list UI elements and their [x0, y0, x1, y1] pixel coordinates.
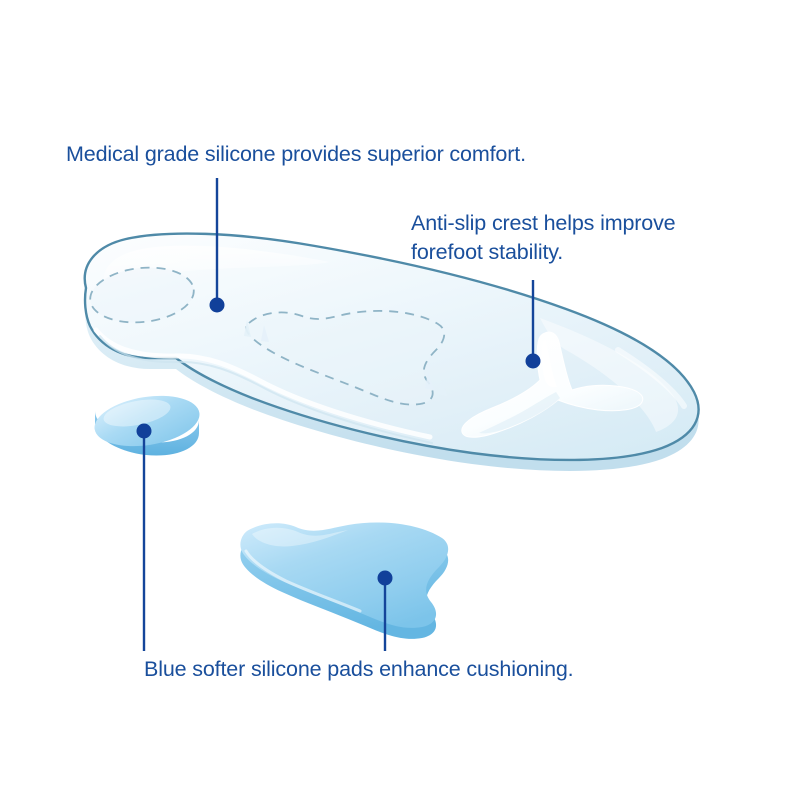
metatarsal-pad — [240, 523, 448, 639]
leader-dot-crest — [526, 354, 541, 369]
product-infographic: Medical grade silicone provides superior… — [0, 0, 800, 800]
leader-dot-silicone — [210, 298, 225, 313]
leader-dot-metatarsal-pad — [378, 571, 393, 586]
callout-blue-softer-pads: Blue softer silicone pads enhance cushio… — [144, 655, 684, 684]
callout-medical-grade-silicone: Medical grade silicone provides superior… — [66, 140, 686, 169]
heel-disc-pad — [91, 389, 203, 456]
callout-anti-slip-crest: Anti-slip crest helps improve forefoot s… — [411, 209, 761, 267]
leader-dot-heel-disc — [137, 424, 152, 439]
